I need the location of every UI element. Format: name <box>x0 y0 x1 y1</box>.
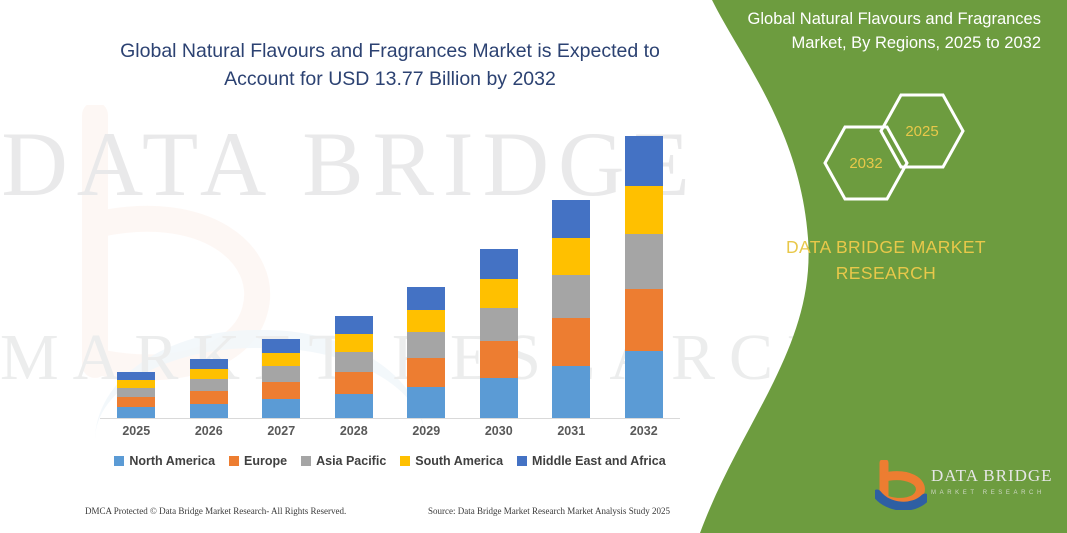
bar-segment <box>625 136 663 186</box>
legend-label: Europe <box>244 454 287 468</box>
bar-segment <box>407 332 445 358</box>
x-axis-line <box>100 418 680 419</box>
x-axis-label: 2031 <box>535 424 607 438</box>
legend-label: South America <box>415 454 503 468</box>
hexagon-badge-2025-label: 2025 <box>879 92 965 170</box>
bar-segment <box>190 404 228 418</box>
bar-segment <box>335 316 373 334</box>
green-panel-content: Global Natural Flavours and Fragrances M… <box>705 0 1067 533</box>
bar-column <box>245 120 317 418</box>
bar-segment <box>335 394 373 418</box>
logo-subtitle: MARKET RESEARCH <box>931 490 1053 496</box>
bar-segment <box>335 372 373 394</box>
bar-segment <box>407 310 445 332</box>
hexagon-badge-2025: 2025 <box>879 92 965 170</box>
bar-segment <box>190 369 228 379</box>
legend-label: Middle East and Africa <box>532 454 666 468</box>
bar-segment <box>117 397 155 407</box>
bar-segment <box>407 287 445 310</box>
bar-segment <box>190 359 228 369</box>
bar-segment <box>117 372 155 380</box>
bar-segment <box>552 366 590 418</box>
bar-segment <box>190 391 228 404</box>
bar-segment <box>480 341 518 378</box>
bar-segment <box>262 366 300 382</box>
bar-column <box>535 120 607 418</box>
bar-segment <box>480 279 518 308</box>
bar-segment <box>480 378 518 419</box>
legend-item[interactable]: Middle East and Africa <box>517 454 666 468</box>
bar-segment <box>262 382 300 399</box>
chart-title: Global Natural Flavours and Fragrances M… <box>90 38 690 93</box>
chart-legend: North AmericaEuropeAsia PacificSouth Ame… <box>100 454 680 468</box>
legend-swatch <box>229 456 239 466</box>
chart-panel: Global Natural Flavours and Fragrances M… <box>0 0 760 533</box>
bar-segment <box>552 275 590 318</box>
bar-column <box>100 120 172 418</box>
stacked-bar <box>262 339 300 418</box>
bar-segment <box>262 353 300 366</box>
stacked-bar <box>552 200 590 418</box>
bar-segment <box>552 318 590 365</box>
stacked-bar <box>625 136 663 418</box>
legend-item[interactable]: Asia Pacific <box>301 454 386 468</box>
bar-segment <box>625 234 663 289</box>
stacked-bar-series <box>100 120 680 418</box>
x-axis-label: 2028 <box>318 424 390 438</box>
bar-segment <box>262 339 300 353</box>
bar-segment <box>552 238 590 275</box>
x-axis-label: 2032 <box>608 424 680 438</box>
x-axis-label: 2030 <box>463 424 535 438</box>
bar-segment <box>480 308 518 341</box>
stacked-bar <box>480 249 518 418</box>
legend-label: Asia Pacific <box>316 454 386 468</box>
legend-swatch <box>517 456 527 466</box>
legend-item[interactable]: North America <box>114 454 215 468</box>
logo-text: DATA BRIDGE MARKET RESEARCH <box>931 466 1053 496</box>
bar-segment <box>625 351 663 418</box>
x-axis-label: 2025 <box>100 424 172 438</box>
bar-segment <box>480 249 518 279</box>
bar-column <box>390 120 462 418</box>
stacked-bar <box>335 316 373 418</box>
footer-source-text: Source: Data Bridge Market Research Mark… <box>428 506 670 516</box>
footer-dmca-text: DMCA Protected © Data Bridge Market Rese… <box>85 506 346 516</box>
bar-segment <box>335 334 373 351</box>
x-axis-labels: 20252026202720282029203020312032 <box>100 424 680 438</box>
legend-item[interactable]: South America <box>400 454 503 468</box>
legend-label: North America <box>129 454 215 468</box>
data-bridge-logo: DATA BRIDGE MARKET RESEARCH <box>875 458 1065 516</box>
bar-segment <box>117 407 155 418</box>
stacked-bar <box>117 372 155 418</box>
bar-segment <box>625 289 663 350</box>
x-axis-label: 2026 <box>173 424 245 438</box>
bar-segment <box>625 186 663 234</box>
bar-segment <box>407 387 445 418</box>
bar-segment <box>552 200 590 239</box>
legend-swatch <box>400 456 410 466</box>
stacked-bar <box>407 287 445 418</box>
bar-segment <box>262 399 300 418</box>
logo-title: DATA BRIDGE <box>931 466 1053 486</box>
legend-swatch <box>301 456 311 466</box>
bar-column <box>608 120 680 418</box>
stacked-bar <box>190 359 228 418</box>
bar-column <box>318 120 390 418</box>
panel-title: Global Natural Flavours and Fragrances M… <box>705 8 1055 56</box>
bar-segment <box>117 388 155 397</box>
bar-column <box>173 120 245 418</box>
x-axis-label: 2029 <box>390 424 462 438</box>
infographic-canvas: DATA BRIDGE MARKET RESEARCH Global Natur… <box>0 0 1067 533</box>
legend-swatch <box>114 456 124 466</box>
hexagon-badges: 2032 2025 <box>823 92 963 202</box>
bar-segment <box>190 379 228 391</box>
x-axis-label: 2027 <box>245 424 317 438</box>
brand-name: DATA BRIDGE MARKET RESEARCH <box>705 234 1067 287</box>
bar-segment <box>117 380 155 388</box>
bar-segment <box>407 358 445 387</box>
bar-column <box>463 120 535 418</box>
legend-item[interactable]: Europe <box>229 454 287 468</box>
logo-mark-icon <box>875 460 927 510</box>
bar-segment <box>335 352 373 372</box>
